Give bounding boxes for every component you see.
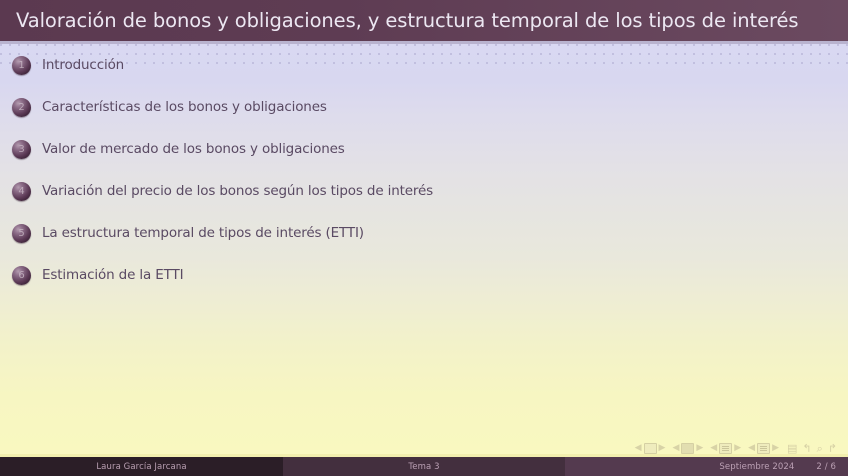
frame-prev-icon[interactable]: ◀ — [672, 444, 679, 453]
bullet-number: 4 — [12, 182, 31, 201]
toc-item-label: Características de los bonos y obligacio… — [42, 99, 327, 115]
section-next-icon[interactable]: ▶ — [772, 444, 779, 453]
bullet-number: 3 — [12, 140, 31, 159]
footer-date: Septiembre 2024 — [719, 462, 794, 472]
footer-page-number: 2 / 6 — [816, 462, 836, 472]
frame-nav-group[interactable]: ◀ ▶ — [672, 443, 703, 454]
toc-item-introduccion[interactable]: 1 Introducción — [0, 44, 848, 86]
section-prev-icon[interactable]: ◀ — [748, 444, 755, 453]
slide-prev-icon[interactable]: ◀ — [635, 444, 642, 453]
bullet-number: 2 — [12, 98, 31, 117]
numbered-bullet-icon: 5 — [12, 224, 31, 243]
toc-item-label: Introducción — [42, 57, 124, 73]
slide-next-icon[interactable]: ▶ — [659, 444, 666, 453]
subsection-next-icon[interactable]: ▶ — [734, 444, 741, 453]
table-of-contents: 1 Introducción 2 Características de los … — [0, 44, 848, 296]
presentation-slide: Valoración de bonos y obligaciones, y es… — [0, 0, 848, 476]
slide-icon[interactable] — [644, 443, 657, 454]
subsection-prev-icon[interactable]: ◀ — [710, 444, 717, 453]
footer-author-segment: Laura García Jarcana — [0, 457, 283, 476]
section-icon[interactable] — [757, 443, 770, 454]
toc-item-estructura-temporal[interactable]: 5 La estructura temporal de tipos de int… — [0, 212, 848, 254]
beamer-navigation-symbols[interactable]: ◀ ▶ ◀ ▶ ◀ ▶ ◀ ▶ ▤ ↰ ⌕ ↱ — [635, 441, 838, 455]
toc-item-valor-mercado[interactable]: 3 Valor de mercado de los bonos y obliga… — [0, 128, 848, 170]
numbered-bullet-icon: 2 — [12, 98, 31, 117]
forward-icon[interactable]: ↱ — [828, 443, 837, 454]
numbered-bullet-icon: 6 — [12, 266, 31, 285]
numbered-bullet-icon: 4 — [12, 182, 31, 201]
bullet-number: 5 — [12, 224, 31, 243]
subsection-nav-group[interactable]: ◀ ▶ — [710, 443, 741, 454]
back-icon[interactable]: ↰ — [802, 443, 811, 454]
footer-author: Laura García Jarcana — [96, 462, 186, 472]
frame-next-icon[interactable]: ▶ — [696, 444, 703, 453]
page-title: Valoración de bonos y obligaciones, y es… — [16, 9, 798, 32]
toc-item-variacion-precio[interactable]: 4 Variación del precio de los bonos segú… — [0, 170, 848, 212]
document-icon[interactable]: ▤ — [787, 443, 797, 454]
footer-subject-segment: Tema 3 — [283, 457, 565, 476]
subsection-icon[interactable] — [719, 443, 732, 454]
footer-date-segment: Septiembre 2024 2 / 6 — [565, 457, 848, 476]
footer-subject: Tema 3 — [408, 462, 439, 472]
toc-item-label: La estructura temporal de tipos de inter… — [42, 225, 364, 241]
toc-item-label: Variación del precio de los bonos según … — [42, 183, 433, 199]
bullet-number: 1 — [12, 56, 31, 75]
search-icon[interactable]: ⌕ — [817, 443, 823, 454]
slide-footer: Laura García Jarcana Tema 3 Septiembre 2… — [0, 457, 848, 476]
section-nav-group[interactable]: ◀ ▶ — [748, 443, 779, 454]
toc-item-label: Estimación de la ETTI — [42, 267, 183, 283]
toc-item-estimacion-etti[interactable]: 6 Estimación de la ETTI — [0, 254, 848, 296]
bullet-number: 6 — [12, 266, 31, 285]
numbered-bullet-icon: 1 — [12, 56, 31, 75]
toc-item-caracteristicas[interactable]: 2 Características de los bonos y obligac… — [0, 86, 848, 128]
numbered-bullet-icon: 3 — [12, 140, 31, 159]
slide-nav-group[interactable]: ◀ ▶ — [635, 443, 666, 454]
slide-title-bar: Valoración de bonos y obligaciones, y es… — [0, 0, 848, 41]
toc-item-label: Valor de mercado de los bonos y obligaci… — [42, 141, 345, 157]
frame-icon[interactable] — [681, 443, 694, 454]
